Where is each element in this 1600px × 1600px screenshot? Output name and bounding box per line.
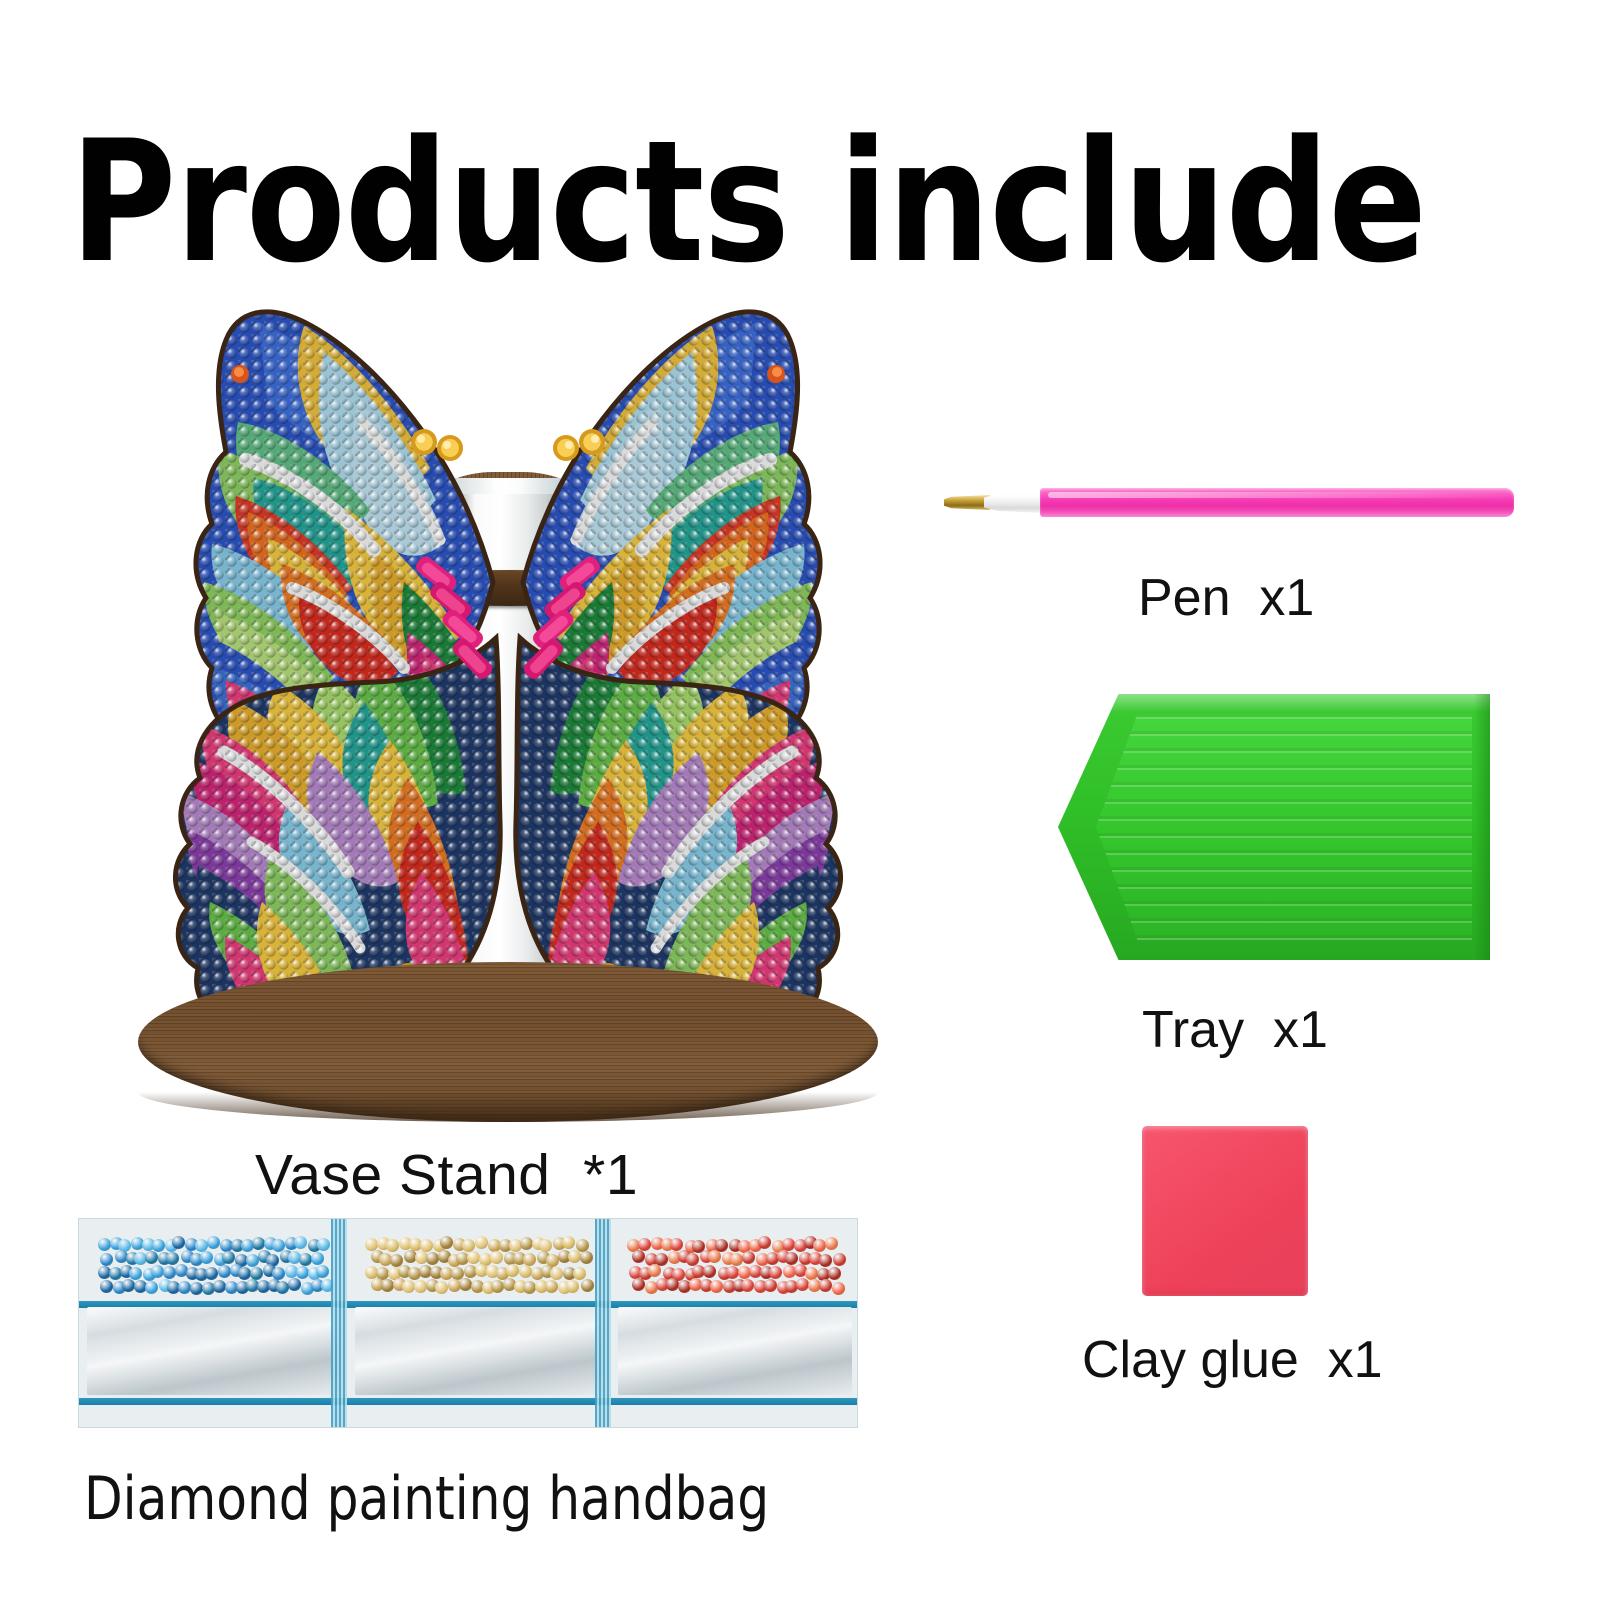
pouch-zip-bottom [347,1398,611,1405]
rhinestone-bead [222,1251,235,1264]
rhinestone-bead [828,1267,841,1280]
rhinestone-bead [317,1238,330,1251]
rhinestone-bead [632,1250,645,1263]
tray-label: Tray x1 [1142,1000,1328,1060]
rhinestone-bead [506,1264,519,1277]
tray-grooved-well [1096,714,1472,940]
rhinestone-bead [200,1251,213,1264]
rhinestone-bead [638,1238,651,1251]
pen-gloss-highlight [1048,492,1506,498]
rhinestone-bead [100,1280,113,1293]
rhinestone-bead [758,1236,771,1249]
handbag-pouch-blue [79,1219,347,1428]
rhinestone-bead [299,1253,312,1266]
rhinestone-bead [670,1238,683,1251]
vase-stand-label: Vase Stand *1 [255,1142,638,1208]
rhinestone-bead [726,1266,739,1279]
rhinestone-bead [311,1252,324,1265]
rhinestone-bead [246,1254,259,1267]
pouch-seam [595,1219,611,1428]
rhinestone-bead [288,1278,301,1291]
rhinestone-bead [832,1282,845,1295]
rhinestone-bead [414,1280,427,1293]
pouch-foil-panel [355,1307,603,1395]
rhinestone-bead [708,1250,721,1263]
rhinestone-bead [316,1265,329,1278]
rhinestone-bead [250,1267,263,1280]
rhinestone-bead [562,1236,575,1249]
rhinestone-bead [151,1265,164,1278]
wood-base-rim [138,1092,878,1122]
rhinestone-bead [172,1236,185,1249]
tray-right-edge [1474,694,1490,960]
rhinestone-bead [145,1251,158,1264]
rhinestone-bead [648,1264,661,1277]
rhinestone-bead [218,1265,231,1278]
rhinestone-bead [825,1237,838,1250]
rhinestone-bead [205,1267,218,1280]
pen-ferrule [984,492,1046,513]
pen-product [944,482,1514,524]
rhinestone-bead [741,1279,754,1292]
handbag-label: Diamond painting handbag [84,1464,769,1534]
rhinestone-bead [440,1236,453,1249]
rhinestone-bead [98,1238,111,1251]
rhinestone-bead [769,1266,782,1279]
gem-cluster-blue [95,1236,331,1305]
rhinestone-bead [491,1280,504,1293]
rhinestone-bead [152,1239,165,1252]
rhinestone-bead [435,1281,448,1294]
rhinestone-bead [730,1253,743,1266]
rhinestone-bead [703,1265,716,1278]
rhinestone-bead [785,1252,798,1265]
rhinestone-bead [632,1278,645,1291]
butterfly-rhinestone-icon [108,282,908,1062]
rhinestone-bead [545,1280,558,1293]
rhinestone-bead [207,1236,220,1249]
pouch-zip-bottom [611,1398,858,1405]
rhinestone-bead [190,1282,203,1295]
gem-cluster-red [626,1236,844,1305]
vase-stand-product [108,282,908,1122]
rhinestone-bead [666,1278,679,1291]
rhinestone-bead [742,1251,755,1264]
rhinestone-bead [581,1279,594,1292]
pouch-foil-panel [618,1307,851,1395]
pouch-foil-panel [87,1307,339,1395]
page-title: Products include [70,112,1472,292]
rhinestone-bead [386,1239,399,1252]
rhinestone-bead [580,1251,593,1264]
clay-glue-label: Clay glue x1 [1082,1330,1383,1390]
rhinestone-bead [459,1278,472,1291]
rhinestone-bead [805,1267,818,1280]
product-include-infographic: Products include [0,0,1600,1600]
rhinestone-bead [519,1265,532,1278]
pen-label: Pen x1 [1138,568,1314,628]
handbag-pouch-red [611,1219,858,1428]
gem-cluster-gold [363,1236,595,1305]
handbag-pouch-gold [347,1219,611,1428]
pouch-zip-bottom [79,1398,347,1405]
tray-rim-highlight [1058,694,1490,712]
rhinestone-bead [166,1252,179,1265]
rhinestone-bead [566,1280,579,1293]
rhinestone-bead [294,1236,307,1249]
tray-product [1058,694,1490,960]
diamond-painting-handbag-product [78,1218,858,1428]
rhinestone-bead [100,1253,113,1266]
rhinestone-bead [550,1267,563,1280]
rhinestone-bead [710,1280,723,1293]
rhinestone-bead [764,1279,777,1292]
pen-metal-tip [944,495,990,510]
rhinestone-bead [381,1279,394,1292]
rhinestone-bead [813,1239,826,1252]
rhinestone-bead [145,1281,158,1294]
rhinestone-bead [819,1279,832,1292]
rhinestone-bead [475,1236,488,1249]
rhinestone-bead [129,1267,142,1280]
clay-glue-product [1142,1126,1308,1296]
rhinestone-bead [490,1251,503,1264]
rhinestone-bead [178,1281,191,1294]
rhinestone-bead [426,1252,439,1265]
rhinestone-bead [833,1253,846,1266]
rhinestone-bead [819,1254,832,1267]
rhinestone-bead [365,1238,378,1251]
pouch-seam [331,1219,347,1428]
